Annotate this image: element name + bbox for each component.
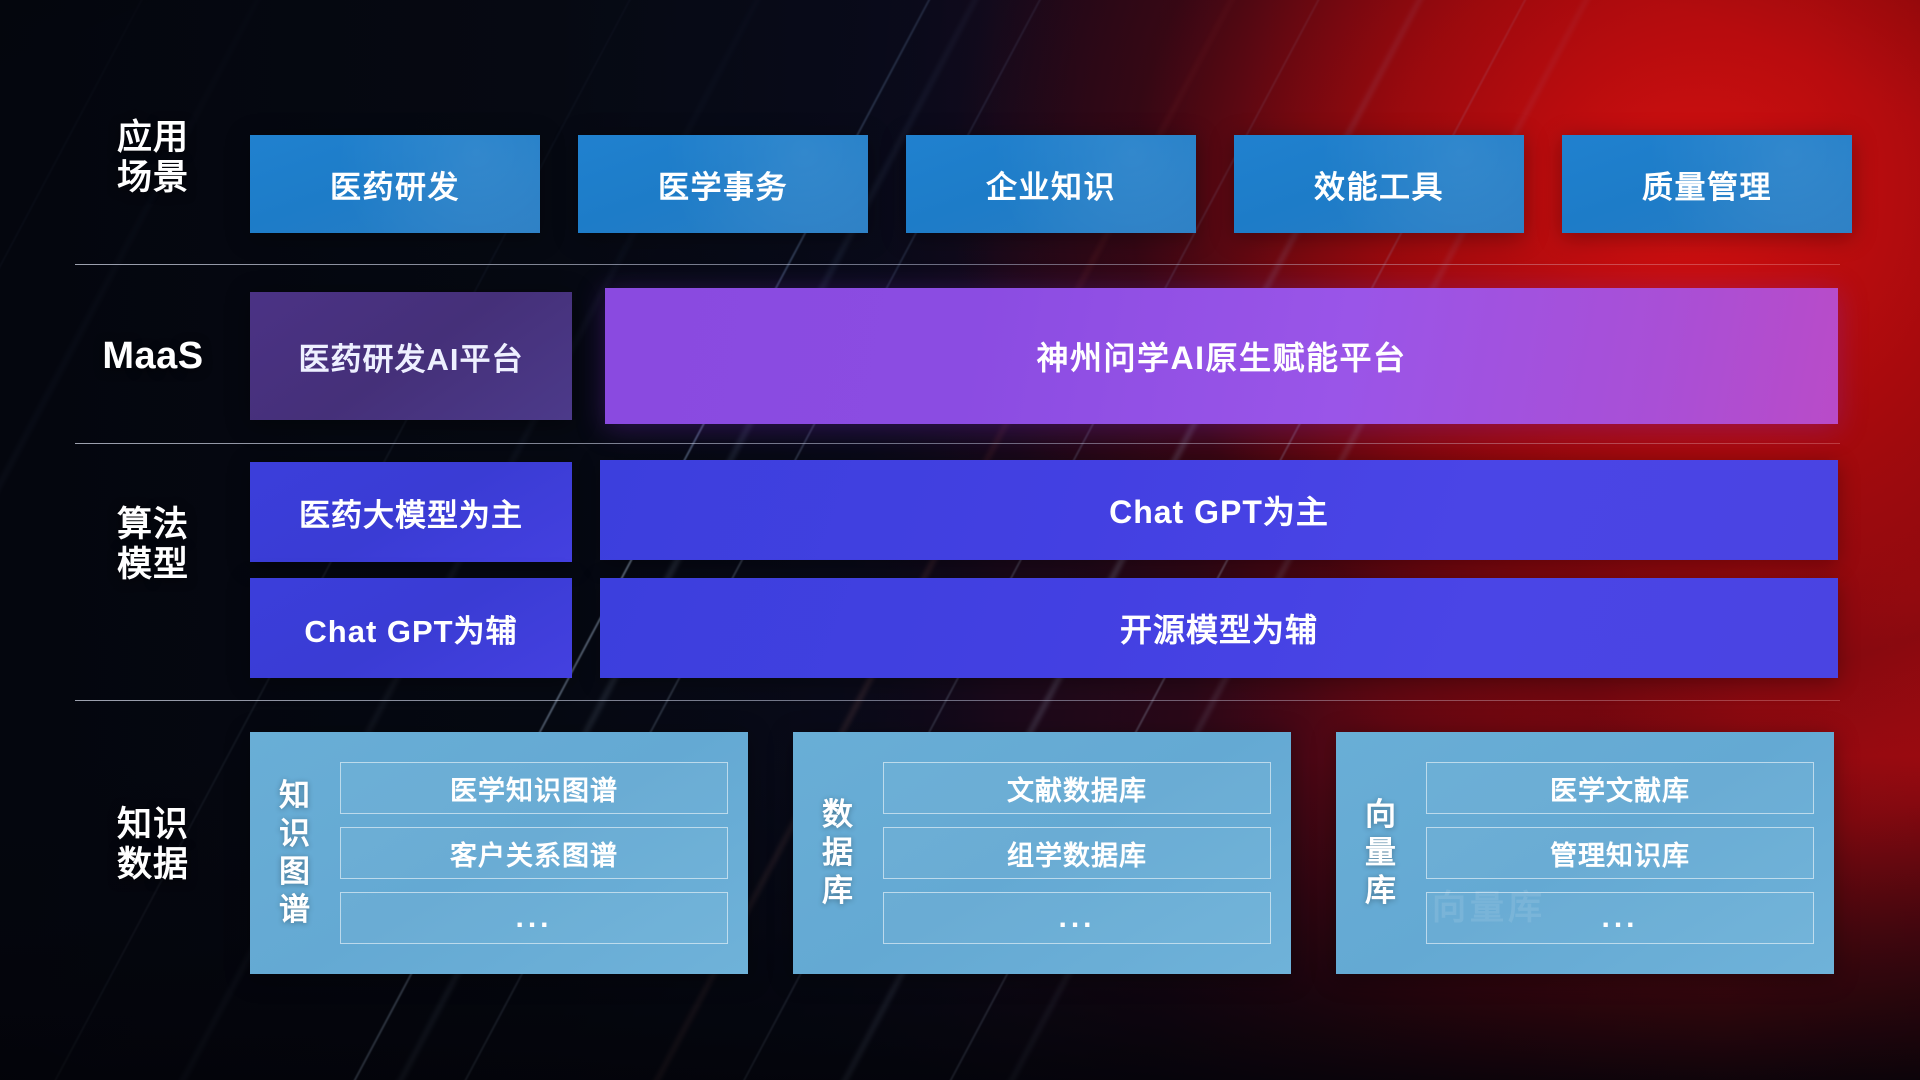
vertical-char: 量	[1365, 834, 1397, 872]
app-box-medicine-rd[interactable]: 医药研发	[250, 135, 540, 233]
maas-box-medicine-ai-platform[interactable]: 医药研发AI平台	[250, 292, 572, 420]
knowledge-item-literature-database[interactable]: 文献数据库	[883, 762, 1271, 814]
vertical-char: 库	[822, 872, 854, 910]
vertical-char: 据	[822, 834, 854, 872]
tier-label-maas: MaaS	[78, 335, 228, 378]
knowledge-item-more[interactable]: ...	[883, 892, 1271, 944]
knowledge-item-medical-literature-store[interactable]: 医学文献库	[1426, 762, 1814, 814]
knowledge-group-database: 数 据 库 文献数据库 组学数据库 ...	[793, 732, 1291, 974]
knowledge-group-label-vector-store: 向 量 库	[1352, 796, 1410, 909]
tier-label-line-1: 应用	[78, 118, 228, 158]
tier-label-line-2: 模型	[78, 545, 228, 585]
knowledge-item-management-knowledge-store[interactable]: 管理知识库	[1426, 827, 1814, 879]
algo-box-medicine-llm-primary[interactable]: 医药大模型为主	[250, 462, 572, 562]
vertical-char: 向	[1365, 796, 1397, 834]
divider-tier-2	[75, 443, 1840, 444]
vertical-char: 识	[279, 815, 311, 853]
divider-tier-3	[75, 700, 1840, 701]
app-box-enterprise-knowledge[interactable]: 企业知识	[906, 135, 1196, 233]
maas-box-shenzhou-wenxue-platform[interactable]: 神州问学AI原生赋能平台	[605, 288, 1838, 424]
knowledge-group-items: 医学文献库 管理知识库 ...	[1426, 762, 1814, 944]
knowledge-data-groups: 知 识 图 谱 医学知识图谱 客户关系图谱 ... 数 据 库 文献数据库 组学…	[250, 732, 1834, 974]
app-box-quality-management[interactable]: 质量管理	[1562, 135, 1852, 233]
algo-box-chatgpt-primary[interactable]: Chat GPT为主	[600, 460, 1838, 560]
knowledge-item-medical-knowledge-graph[interactable]: 医学知识图谱	[340, 762, 728, 814]
app-box-medical-affairs[interactable]: 医学事务	[578, 135, 868, 233]
vertical-char: 数	[822, 796, 854, 834]
knowledge-item-customer-relation-graph[interactable]: 客户关系图谱	[340, 827, 728, 879]
knowledge-item-more[interactable]: ...	[340, 892, 728, 944]
tier-label-algorithm-models: 算法 模型	[78, 505, 228, 585]
architecture-diagram: 应用 场景 医药研发 医学事务 企业知识 效能工具 质量管理 MaaS 医药研发…	[0, 0, 1920, 1080]
knowledge-group-label-knowledge-graph: 知 识 图 谱	[266, 777, 324, 928]
knowledge-item-more[interactable]: ...	[1426, 892, 1814, 944]
vertical-char: 图	[279, 853, 311, 891]
tier-label-line-1: 算法	[78, 505, 228, 545]
vertical-char: 谱	[279, 891, 311, 929]
knowledge-group-vector-store: 向 量 库 医学文献库 管理知识库 ...	[1336, 732, 1834, 974]
knowledge-group-label-database: 数 据 库	[809, 796, 867, 909]
knowledge-item-omics-database[interactable]: 组学数据库	[883, 827, 1271, 879]
knowledge-group-knowledge-graph: 知 识 图 谱 医学知识图谱 客户关系图谱 ...	[250, 732, 748, 974]
tier-label-line-2: 数据	[78, 845, 228, 885]
tier-label-line-1: 知识	[78, 805, 228, 845]
tier-label-application-scenarios: 应用 场景	[78, 118, 228, 198]
knowledge-group-items: 医学知识图谱 客户关系图谱 ...	[340, 762, 728, 944]
tier-label-line-2: 场景	[78, 158, 228, 198]
app-box-efficiency-tools[interactable]: 效能工具	[1234, 135, 1524, 233]
tier-label-knowledge-data: 知识 数据	[78, 805, 228, 885]
vertical-char: 库	[1365, 872, 1397, 910]
algo-box-opensource-secondary[interactable]: 开源模型为辅	[600, 578, 1838, 678]
knowledge-group-items: 文献数据库 组学数据库 ...	[883, 762, 1271, 944]
vertical-char: 知	[279, 777, 311, 815]
divider-tier-1	[75, 264, 1840, 265]
algo-box-chatgpt-secondary[interactable]: Chat GPT为辅	[250, 578, 572, 678]
application-scenario-boxes: 医药研发 医学事务 企业知识 效能工具 质量管理	[250, 135, 1852, 233]
